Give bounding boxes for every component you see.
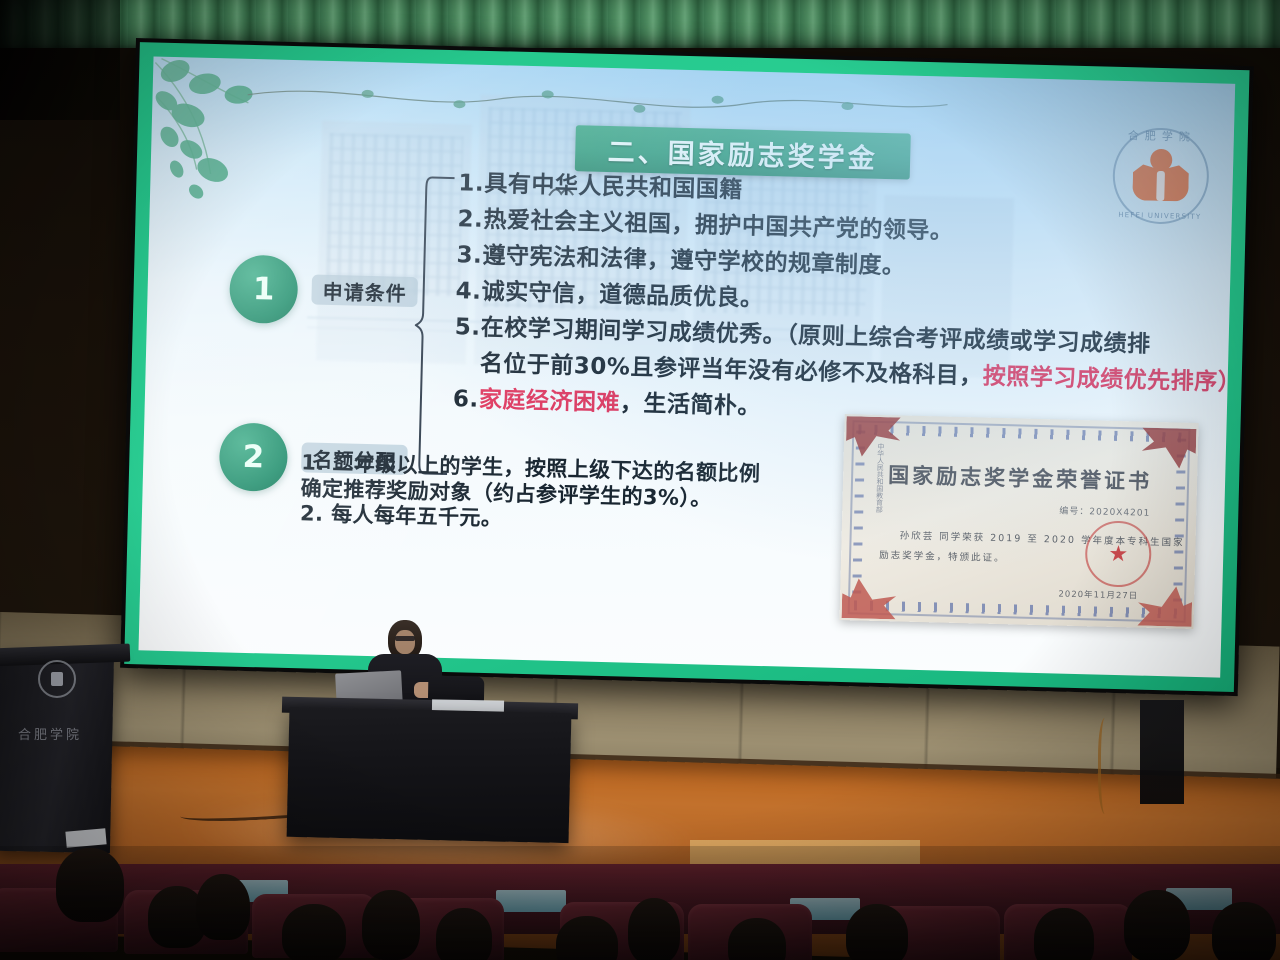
side-cable [1098, 718, 1115, 814]
projection-screen: 二、国家励志奖学金 合肥学院 HEFEI UNIVERSITY 1 申请条件 [120, 38, 1254, 696]
podium-emblem-icon [38, 660, 76, 698]
condition-1-text: 具有中华人民共和国国籍 [484, 171, 743, 204]
section-1-label: 申请条件 [322, 275, 407, 306]
section-1-label-chip: 申请条件 [311, 275, 418, 308]
section-2-number: 2 [242, 439, 264, 476]
condition-6-num: 6. [453, 388, 480, 412]
speaker-box [1140, 700, 1184, 804]
presenter-face [395, 630, 415, 654]
condition-4-text: 诚实守信，道德品质优良。 [481, 279, 764, 312]
curtain-shadow-left [0, 0, 120, 120]
condition-5-num: 5. [454, 316, 481, 340]
slide-title-banner: 二、国家励志奖学金 [575, 125, 911, 179]
condition-2-text: 热爱社会主义祖国，拥护中国共产党的领导。 [483, 207, 954, 245]
presenter-table [287, 707, 572, 843]
audience-shadow [0, 846, 1280, 960]
condition-3-num: 3. [456, 244, 483, 268]
certificate-serial-value: 2020X4201 [1089, 507, 1150, 519]
conditions-list: 1.具有中华人民共和国国籍 2.热爱社会主义祖国，拥护中国共产党的领导。 3.遵… [452, 172, 1228, 443]
certificate-inner-border [848, 420, 1191, 622]
presenter-glasses [395, 636, 415, 641]
condition-4-num: 4. [455, 280, 482, 304]
certificate-date: 2020年11月27日 [1058, 588, 1138, 602]
certificate-photo: 中华人民共和国教育部 国家励志奖学金荣誉证书 编号：2020X4201 孙欣芸 … [839, 414, 1198, 629]
slide-title: 二、国家励志奖学金 [607, 129, 878, 175]
condition-3-text: 遵守宪法和法律，遵守学校的规章制度。 [482, 243, 906, 280]
condition-5-line2-text: 名位于前30%且参评当年没有必修不及格科目， [480, 351, 984, 390]
podium-university-name: 合肥学院 [18, 724, 82, 743]
condition-5-line2-highlight: 按照学习成绩优先排序） [982, 364, 1235, 397]
certificate-serial: 编号：2020X4201 [1059, 504, 1150, 519]
condition-2-num: 2. [457, 208, 484, 232]
curly-brace [411, 175, 457, 476]
emblem-name-cn: 合肥学院 [1124, 127, 1200, 145]
lecture-hall-photo: 二、国家励志奖学金 合肥学院 HEFEI UNIVERSITY 1 申请条件 [0, 0, 1280, 960]
audience-area [0, 846, 1280, 960]
stamp-star-icon: ★ [1108, 541, 1128, 566]
presentation-slide: 二、国家励志奖学金 合肥学院 HEFEI UNIVERSITY 1 申请条件 [139, 56, 1236, 677]
section-1-number-circle: 1 [229, 254, 299, 324]
quota-allocation-body: 1. 二年级以上的学生，按照上级下达的名额比例 确定推荐奖励对象（约占参评学生的… [300, 450, 822, 540]
certificate-serial-label: 编号： [1059, 507, 1089, 518]
condition-6-rest: ，生活简朴。 [620, 390, 762, 420]
condition-1-num: 1. [458, 172, 485, 196]
condition-5-text: 在校学习期间学习成绩优秀。（原则上综合考评成绩或学习成绩排 [480, 315, 1150, 358]
condition-6-highlight: 家庭经济困难 [479, 387, 621, 417]
section-2-number-circle: 2 [219, 422, 289, 492]
section-1-number: 1 [252, 271, 274, 308]
